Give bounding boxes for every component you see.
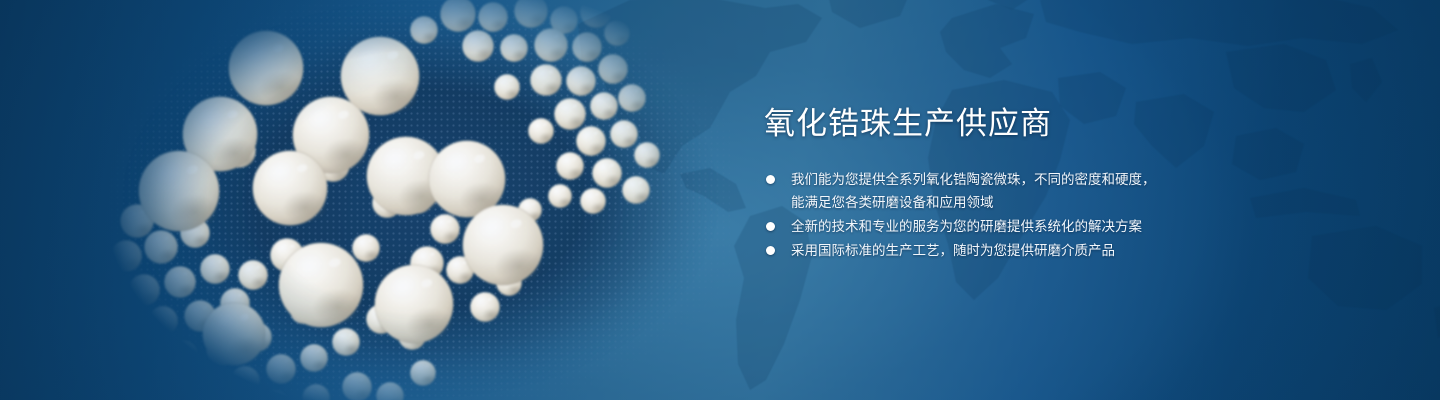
zirconia-beads-photo [110,0,730,400]
bullet-dot-icon [766,175,775,184]
list-item: 采用国际标准的生产工艺，随时为您提供研磨介质产品 [764,239,1234,262]
bullet-dot-icon [766,222,775,231]
list-item-line: 我们能为您提供全系列氧化锆陶瓷微珠，不同的密度和硬度， [791,168,1234,191]
list-item: 全新的技术和专业的服务为您的研磨提供系统化的解决方案 [764,215,1234,238]
bullet-dot-icon [766,246,775,255]
list-item-line: 能满足您各类研磨设备和应用领域 [791,191,1234,214]
page-title: 氧化锆珠生产供应商 [764,104,1234,144]
list-item-line: 全新的技术和专业的服务为您的研磨提供系统化的解决方案 [791,215,1234,238]
list-item: 我们能为您提供全系列氧化锆陶瓷微珠，不同的密度和硬度， 能满足您各类研磨设备和应… [764,168,1234,214]
hero-banner: 氧化锆珠生产供应商 我们能为您提供全系列氧化锆陶瓷微珠，不同的密度和硬度， 能满… [0,0,1440,400]
feature-list: 我们能为您提供全系列氧化锆陶瓷微珠，不同的密度和硬度， 能满足您各类研磨设备和应… [764,168,1234,262]
banner-copy: 氧化锆珠生产供应商 我们能为您提供全系列氧化锆陶瓷微珠，不同的密度和硬度， 能满… [764,104,1234,263]
list-item-line: 采用国际标准的生产工艺，随时为您提供研磨介质产品 [791,239,1234,262]
